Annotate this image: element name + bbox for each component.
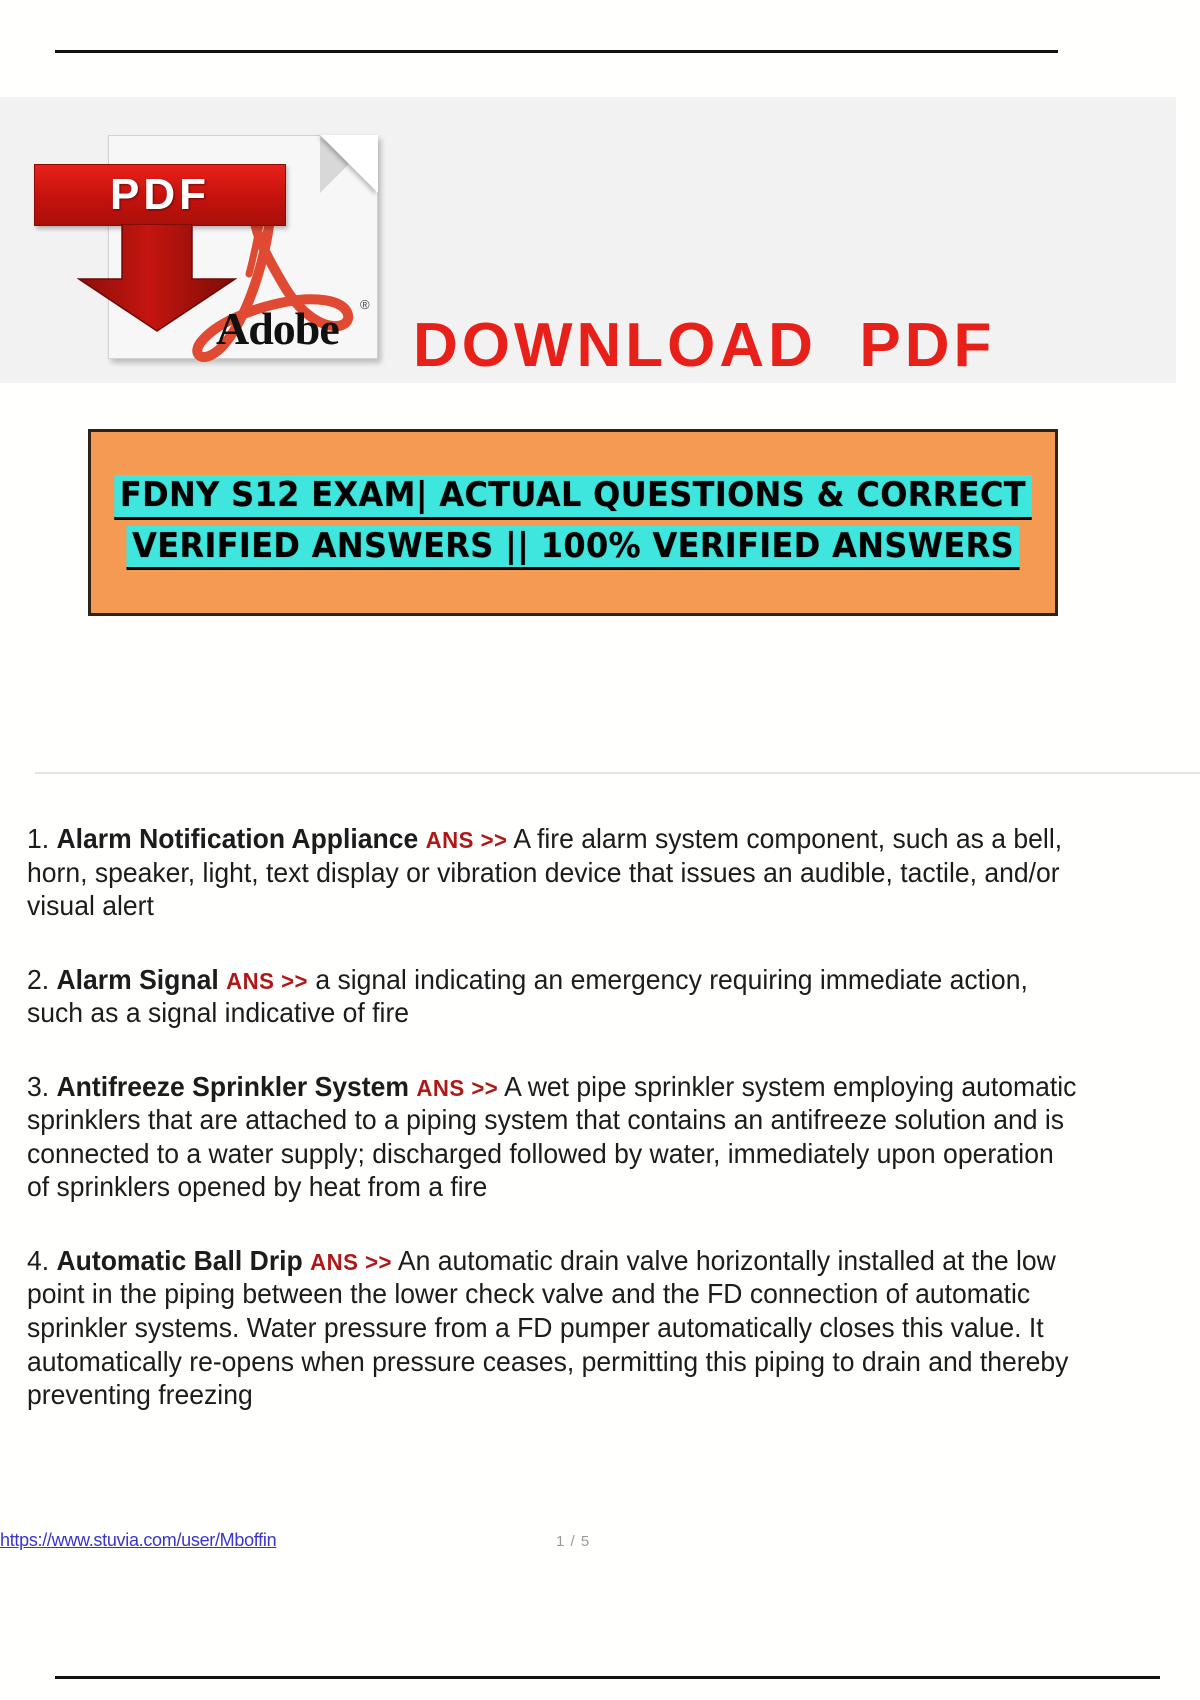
- page-fold-icon: [320, 135, 378, 193]
- qa-item: 3. Antifreeze Sprinkler System ANS >> A …: [27, 1070, 1079, 1204]
- document-page: PDF Adobe ® DOWNLOAD PDF FDNY S12 EXAM| …: [0, 0, 1200, 1700]
- qa-answer-marker: ANS >>: [416, 1075, 498, 1101]
- registered-mark-icon: ®: [360, 297, 370, 312]
- bottom-divider: [55, 1676, 1160, 1679]
- pdf-label-text: PDF: [110, 170, 210, 220]
- content-divider: [35, 772, 1200, 774]
- qa-item: 4. Automatic Ball Drip ANS >> An automat…: [27, 1244, 1079, 1412]
- qa-term: Automatic Ball Drip: [57, 1245, 303, 1276]
- qa-item: 1. Alarm Notification Appliance ANS >> A…: [27, 822, 1079, 923]
- qa-answer-marker: ANS >>: [226, 968, 308, 994]
- exam-title-line-2: VERIFIED ANSWERS || 100% VERIFIED ANSWER…: [126, 526, 1019, 570]
- qa-answer-marker: ANS >>: [426, 827, 508, 853]
- qa-term: Alarm Notification Appliance: [57, 823, 419, 854]
- stuvia-profile-link[interactable]: https://www.stuvia.com/user/Mboffin: [0, 1530, 276, 1551]
- page-indicator: 1 / 5: [556, 1533, 590, 1550]
- exam-title-line-1: FDNY S12 EXAM| ACTUAL QUESTIONS & CORREC…: [114, 475, 1031, 519]
- exam-title-banner: FDNY S12 EXAM| ACTUAL QUESTIONS & CORREC…: [88, 429, 1058, 616]
- pdf-label-badge: PDF: [34, 164, 286, 226]
- pdf-adobe-icon: PDF Adobe ®: [30, 132, 380, 357]
- top-divider: [55, 50, 1058, 53]
- download-pdf-banner[interactable]: PDF Adobe ® DOWNLOAD PDF: [0, 97, 1176, 383]
- qa-number: 2.: [27, 964, 49, 995]
- qa-item: 2. Alarm Signal ANS >> a signal indicati…: [27, 963, 1079, 1030]
- qa-term: Antifreeze Sprinkler System: [57, 1071, 409, 1102]
- qa-number: 4.: [27, 1245, 49, 1276]
- qa-number: 1.: [27, 823, 49, 854]
- download-pdf-label[interactable]: DOWNLOAD PDF: [413, 310, 995, 381]
- qa-term: Alarm Signal: [57, 964, 219, 995]
- download-arrow-icon: [77, 224, 237, 332]
- qa-list: 1. Alarm Notification Appliance ANS >> A…: [27, 822, 1117, 1452]
- qa-answer-marker: ANS >>: [310, 1249, 392, 1275]
- qa-number: 3.: [27, 1071, 49, 1102]
- adobe-wordmark: Adobe: [216, 302, 339, 355]
